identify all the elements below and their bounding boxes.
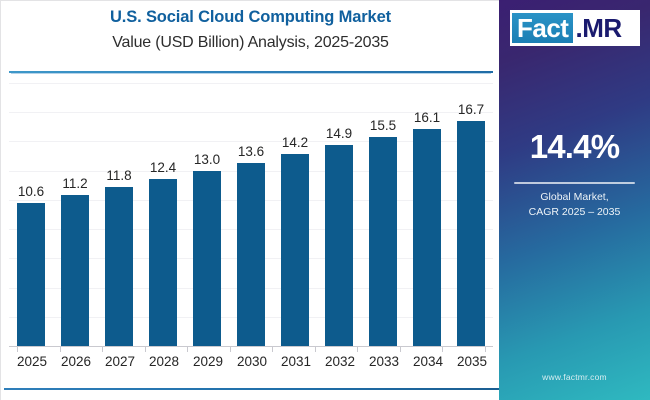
bar-column[interactable]: 15.5 (369, 83, 397, 346)
bar[interactable] (281, 154, 309, 346)
website-link[interactable]: www.factmr.com (499, 372, 650, 382)
x-axis-label: 2028 (149, 354, 177, 370)
bar-column[interactable]: 13.0 (193, 83, 221, 346)
bar-value-label: 12.4 (150, 161, 176, 175)
chart-infographic: U.S. Social Cloud Computing Market Value… (0, 0, 650, 400)
bar-series: 10.611.211.812.413.013.614.214.915.516.1… (9, 83, 493, 346)
bar-column[interactable]: 12.4 (149, 83, 177, 346)
bar-column[interactable]: 13.6 (237, 83, 265, 346)
bar-value-label: 14.9 (326, 127, 352, 141)
page-title: U.S. Social Cloud Computing Market (1, 7, 500, 27)
plot-area: 10.611.211.812.413.013.614.214.915.516.1… (9, 83, 493, 346)
bar-value-label: 11.8 (106, 169, 131, 183)
title-block: U.S. Social Cloud Computing Market Value… (1, 7, 500, 53)
bar-value-label: 13.0 (194, 153, 220, 167)
x-axis-label: 2026 (61, 354, 89, 370)
bar-value-label: 16.1 (414, 111, 440, 125)
x-axis-label: 2031 (281, 354, 309, 370)
x-axis-label: 2025 (17, 354, 45, 370)
bar[interactable] (457, 121, 485, 346)
bar-column[interactable]: 11.2 (61, 83, 89, 346)
cagr-caption: Global Market, CAGR 2025 – 2035 (499, 190, 650, 220)
title-divider-secondary (11, 73, 491, 74)
x-axis-label: 2027 (105, 354, 133, 370)
axis-tick (485, 346, 486, 352)
x-axis-label: 2035 (457, 354, 485, 370)
bar-value-label: 11.2 (62, 177, 87, 191)
bar[interactable] (149, 179, 177, 346)
x-axis-label: 2030 (237, 354, 265, 370)
bar[interactable] (369, 137, 397, 346)
axis-tick (60, 346, 61, 352)
cagr-caption-line-1: Global Market, (499, 190, 650, 205)
logo-secondary-text: .MR (573, 13, 621, 43)
x-axis-label: 2033 (369, 354, 397, 370)
bar-column[interactable]: 16.7 (457, 83, 485, 346)
page-subtitle: Value (USD Billion) Analysis, 2025-2035 (1, 33, 500, 53)
bar-column[interactable]: 11.8 (105, 83, 133, 346)
cagr-divider (514, 182, 635, 184)
chart-panel: U.S. Social Cloud Computing Market Value… (0, 0, 499, 400)
bar[interactable] (413, 129, 441, 346)
brand-panel: Fact .MR 14.4% Global Market, CAGR 2025 … (499, 0, 650, 400)
bar[interactable] (105, 187, 133, 346)
bar-column[interactable]: 10.6 (17, 83, 45, 346)
factmr-logo[interactable]: Fact .MR (510, 10, 640, 46)
axis-tick (187, 346, 188, 352)
axis-tick (442, 346, 443, 352)
bar-column[interactable]: 14.2 (281, 83, 309, 346)
bar[interactable] (325, 145, 353, 346)
x-axis-labels: 2025202620272028202920302031203220332034… (9, 354, 493, 370)
bar[interactable] (61, 195, 89, 346)
x-axis-ticks (9, 346, 493, 352)
cagr-caption-line-2: CAGR 2025 – 2035 (499, 205, 650, 220)
cagr-value: 14.4% (499, 128, 650, 166)
axis-tick (102, 346, 103, 352)
axis-tick (400, 346, 401, 352)
bar-column[interactable]: 14.9 (325, 83, 353, 346)
x-axis-label: 2032 (325, 354, 353, 370)
bar-value-label: 16.7 (458, 103, 484, 117)
bar[interactable] (17, 203, 45, 346)
axis-tick (17, 346, 18, 352)
axis-tick (357, 346, 358, 352)
axis-tick (315, 346, 316, 352)
axis-tick (272, 346, 273, 352)
axis-tick (145, 346, 146, 352)
bar-value-label: 10.6 (18, 185, 44, 199)
bar-column[interactable]: 16.1 (413, 83, 441, 346)
bar-value-label: 14.2 (282, 136, 308, 150)
bar-value-label: 15.5 (370, 119, 396, 133)
bar[interactable] (237, 163, 265, 346)
logo-primary-text: Fact (512, 13, 573, 43)
x-axis-label: 2034 (413, 354, 441, 370)
bar-value-label: 13.6 (238, 145, 264, 159)
x-axis-label: 2029 (193, 354, 221, 370)
bar[interactable] (193, 171, 221, 346)
axis-tick (230, 346, 231, 352)
